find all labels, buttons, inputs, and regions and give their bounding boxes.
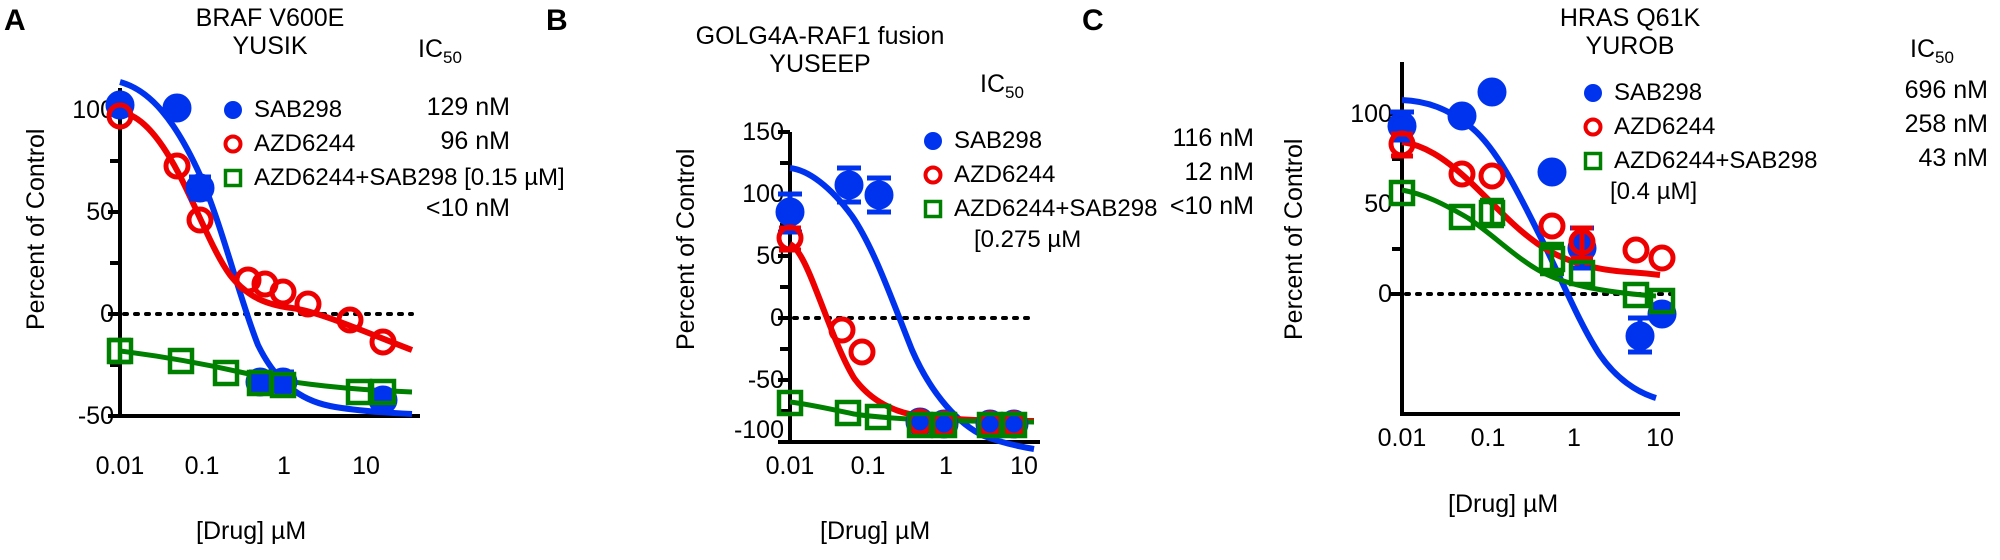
panel-c: C HRAS Q61K YUROB IC50 SAB298 AZD6244 xyxy=(1080,0,2000,560)
panel-a-plot xyxy=(0,0,540,560)
panel-c-plot xyxy=(1080,0,2000,560)
panel-a: A BRAF V600E YUSIK IC50 SAB298 AZD6244 xyxy=(0,0,540,560)
figure-dose-response-panels: A BRAF V600E YUSIK IC50 SAB298 AZD6244 xyxy=(0,0,2000,560)
panel-b: B GOLG4A-RAF1 fusion YUSEEP IC50 SAB298 … xyxy=(540,0,1080,560)
panel-b-plot xyxy=(540,0,1080,560)
